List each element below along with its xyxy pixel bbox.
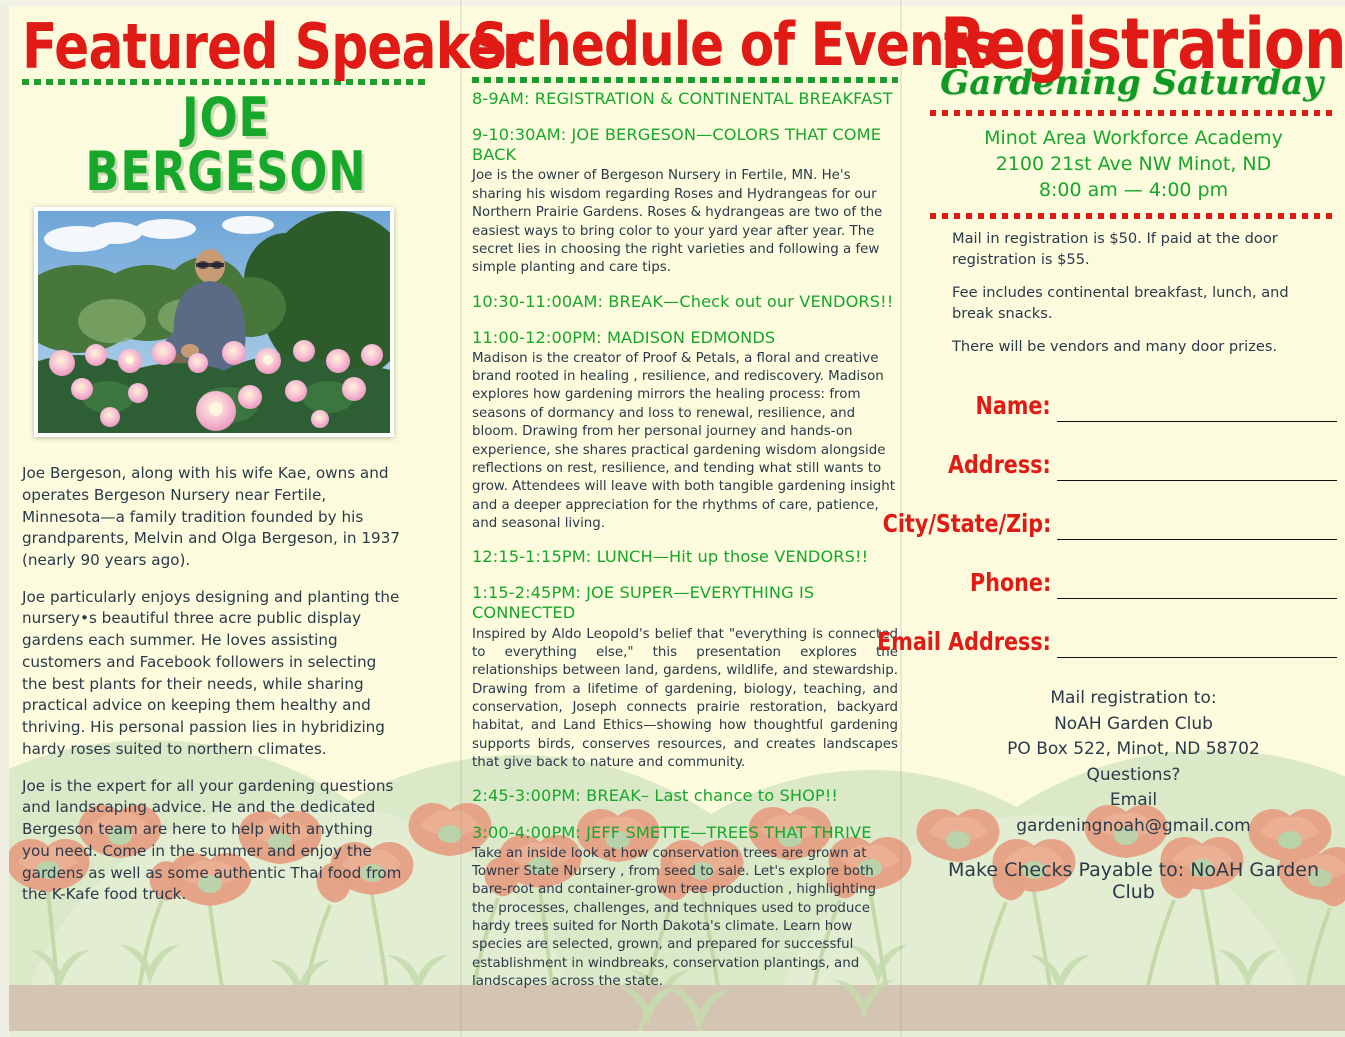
venue-block: Minot Area Workforce Academy 2100 21st A…	[930, 126, 1337, 203]
schedule-item: 1:15-2:45PM: JOE SUPER—EVERYTHING IS CON…	[472, 583, 898, 772]
photo-frame	[34, 207, 422, 437]
schedule-item-description: Madison is the creator of Proof & Petals…	[472, 350, 898, 534]
registration-banner: Registration	[940, 12, 1327, 76]
mail-to-line: Email	[930, 788, 1337, 814]
venue-name: Minot Area Workforce Academy	[930, 126, 1337, 152]
garden-photo-illustration	[38, 211, 390, 433]
mail-to-block: Mail registration to: NoAH Garden Club P…	[930, 686, 1337, 839]
registration-note: Fee includes continental breakfast, lunc…	[952, 283, 1327, 324]
schedule-item-title: 10:30-11:00AM: BREAK—Check out our VENDO…	[472, 292, 898, 312]
registration-form: Name: Address: City/State/Zip:	[930, 391, 1337, 658]
schedule-item: 8-9AM: REGISTRATION & CONTINENTAL BREAKF…	[472, 89, 898, 109]
registration-panel: Registration Gardening Saturday Minot Ar…	[920, 0, 1345, 1037]
registration-note: Mail in registration is $50. If paid at …	[952, 229, 1327, 270]
email-input[interactable]	[1057, 631, 1341, 659]
featured-speaker-banner: Featured Speaker	[22, 18, 401, 75]
speaker-name: JOE BERGESON	[38, 91, 413, 199]
bio-paragraph: Joe particularly enjoys designing and pl…	[22, 587, 402, 761]
city-state-zip-field-line[interactable]	[1057, 513, 1337, 540]
schedule-panel: Schedule of Events 8-9AM: REGISTRATION &…	[460, 0, 920, 1037]
schedule-item: 10:30-11:00AM: BREAK—Check out our VENDO…	[472, 292, 898, 312]
mail-to-line: PO Box 522, Minot, ND 58702	[930, 737, 1337, 763]
brochure-page: Featured Speaker JOE BERGESON	[0, 0, 1345, 1037]
schedule-item-description: Joe is the owner of Bergeson Nursery in …	[472, 167, 898, 277]
featured-speaker-panel: Featured Speaker JOE BERGESON	[0, 0, 460, 1037]
mail-to-line: Mail registration to:	[930, 686, 1337, 712]
phone-input[interactable]	[1057, 572, 1341, 600]
schedule-item-title: 11:00-12:00PM: MADISON EDMONDS	[472, 328, 898, 348]
form-row-name: Name:	[930, 391, 1337, 422]
address-field-line[interactable]	[1057, 454, 1337, 481]
bio-paragraph: Joe Bergeson, along with his wife Kae, o…	[22, 463, 402, 572]
schedule-item-title: 12:15-1:15PM: LUNCH—Hit up those VENDORS…	[472, 547, 898, 567]
name-input[interactable]	[1057, 395, 1341, 423]
red-dotted-rule-bottom	[930, 213, 1337, 219]
city-state-zip-label: City/State/Zip:	[882, 509, 1051, 540]
name-label: Name:	[976, 391, 1051, 422]
schedule-item-description: Take an inside look at how conservation …	[472, 845, 898, 992]
schedule-item: 11:00-12:00PM: MADISON EDMONDS Madison i…	[472, 328, 898, 534]
address-input[interactable]	[1057, 454, 1341, 482]
schedule-item-title: 8-9AM: REGISTRATION & CONTINENTAL BREAKF…	[472, 89, 898, 109]
email-field-line[interactable]	[1057, 631, 1337, 658]
registration-note: There will be vendors and many door priz…	[952, 337, 1327, 357]
schedule-item-title: 2:45-3:00PM: BREAK– Last chance to SHOP!…	[472, 786, 898, 806]
city-state-zip-input[interactable]	[1057, 513, 1341, 541]
mail-to-line: Questions?	[930, 763, 1337, 789]
schedule-item-title: 3:00-4:00PM: JEFF SMETTE—TREES THAT THRI…	[472, 823, 898, 843]
contact-email[interactable]: gardeningnoah@gmail.com	[930, 814, 1337, 840]
email-address-label: Email Address:	[877, 627, 1051, 658]
form-row-phone: Phone:	[930, 568, 1337, 599]
phone-label: Phone:	[970, 568, 1051, 599]
venue-hours: 8:00 am — 4:00 pm	[930, 178, 1337, 204]
registration-notes: Mail in registration is $50. If paid at …	[952, 229, 1337, 357]
speaker-bio: Joe Bergeson, along with his wife Kae, o…	[22, 463, 430, 906]
schedule-item: 3:00-4:00PM: JEFF SMETTE—TREES THAT THRI…	[472, 823, 898, 992]
red-dotted-rule-top	[930, 110, 1337, 116]
schedule-item: 2:45-3:00PM: BREAK– Last chance to SHOP!…	[472, 786, 898, 806]
form-row-city-state-zip: City/State/Zip:	[930, 509, 1337, 540]
phone-field-line[interactable]	[1057, 572, 1337, 599]
form-row-address: Address:	[930, 450, 1337, 481]
schedule-banner: Schedule of Events	[472, 18, 868, 73]
bio-paragraph: Joe is the expert for all your gardening…	[22, 776, 402, 906]
schedule-item: 12:15-1:15PM: LUNCH—Hit up those VENDORS…	[472, 547, 898, 567]
schedule-item-description: Inspired by Aldo Leopold's belief that "…	[472, 626, 898, 773]
venue-address: 2100 21st Ave NW Minot, ND	[930, 152, 1337, 178]
schedule-list: 8-9AM: REGISTRATION & CONTINENTAL BREAKF…	[472, 89, 898, 991]
joe-bergeson-photo	[34, 207, 394, 437]
schedule-item: 9-10:30AM: JOE BERGESON—COLORS THAT COME…	[472, 125, 898, 277]
schedule-item-title: 1:15-2:45PM: JOE SUPER—EVERYTHING IS CON…	[472, 583, 898, 623]
schedule-item-title: 9-10:30AM: JOE BERGESON—COLORS THAT COME…	[472, 125, 898, 165]
form-row-email: Email Address:	[930, 627, 1337, 658]
mail-to-line: NoAH Garden Club	[930, 712, 1337, 738]
make-checks-payable-line: Make Checks Payable to: NoAH Garden Club	[930, 859, 1337, 903]
name-field-line[interactable]	[1057, 395, 1337, 422]
address-label: Address:	[948, 450, 1051, 481]
